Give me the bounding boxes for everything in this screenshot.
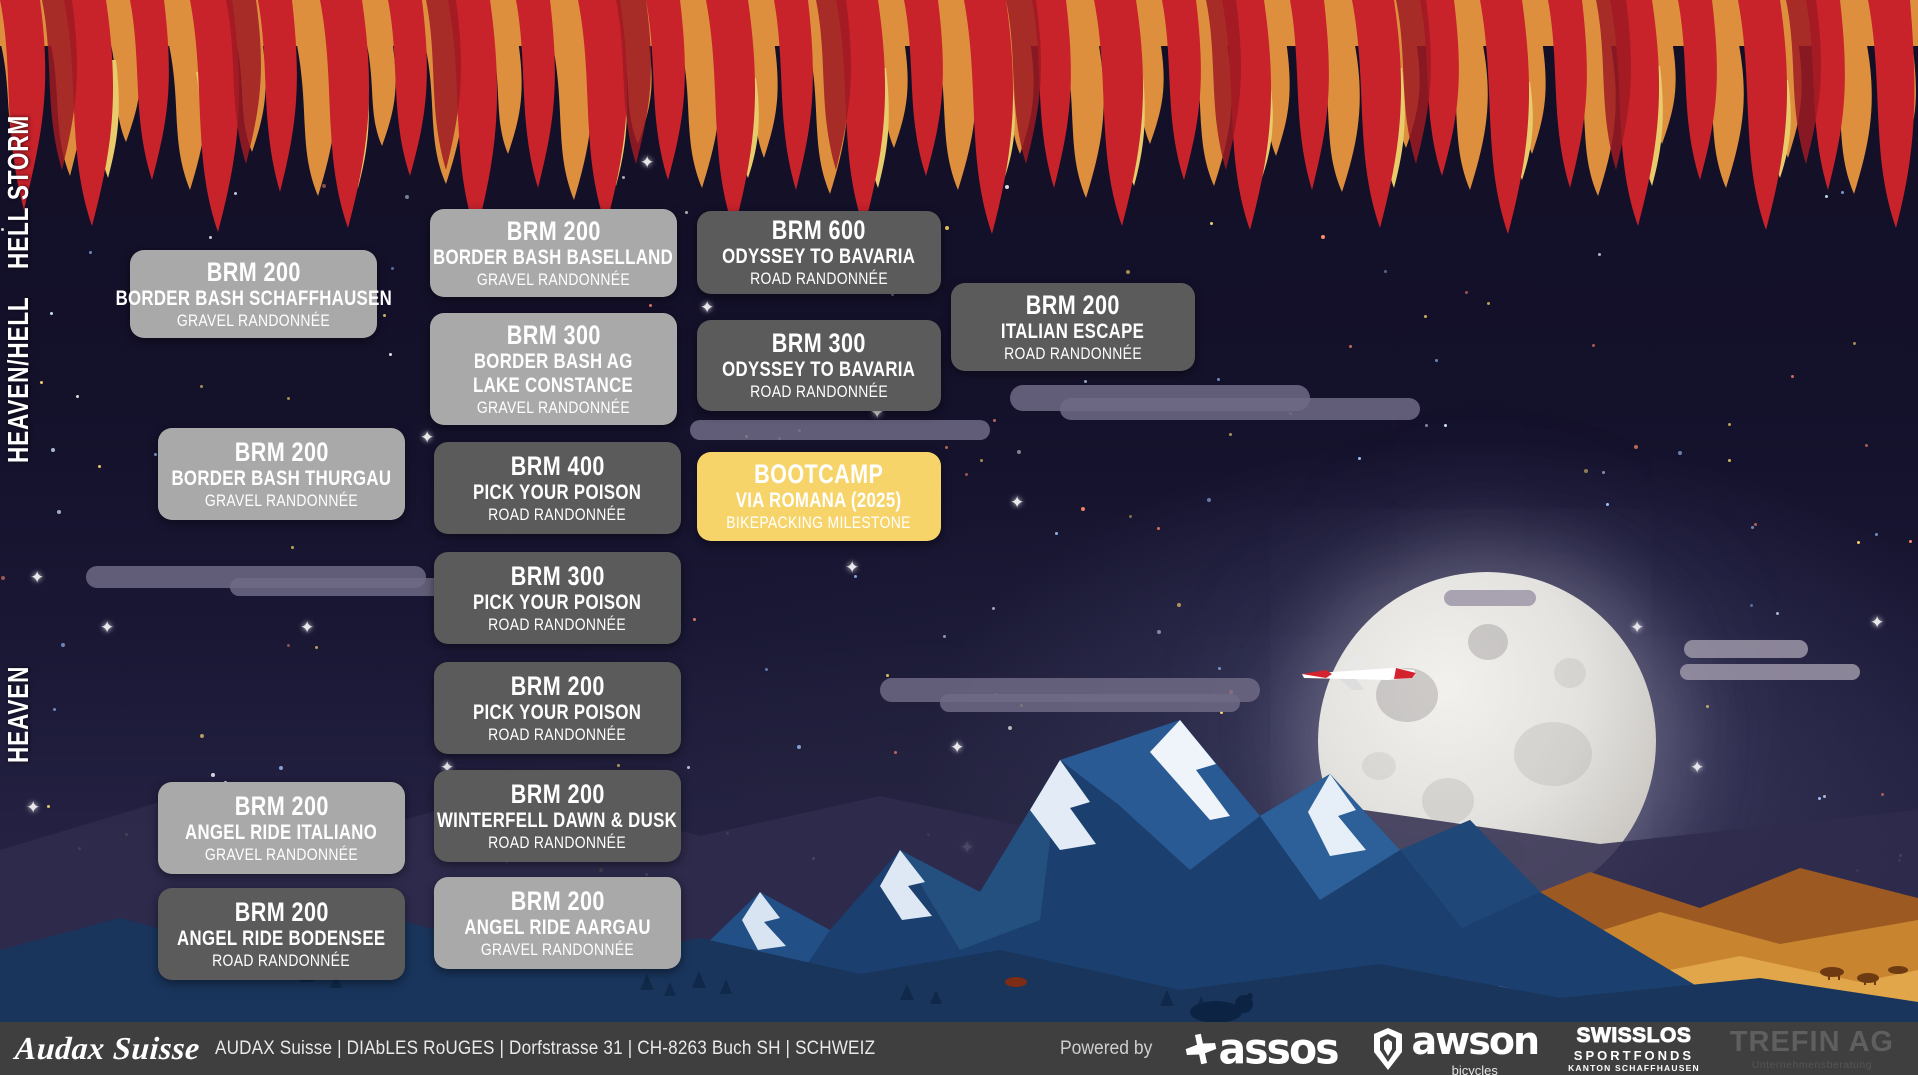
- footer-bar: Audax Suisse AUDAX Suisse | DIAbLES RoUG…: [0, 1022, 1918, 1075]
- event-card-italian-escape[interactable]: BRM 200ITALIAN ESCAPEROAD RANDONNÉE: [951, 283, 1195, 371]
- airplane-icon: [1296, 652, 1424, 692]
- event-card-name: ODYSSEY TO BAVARIA: [722, 358, 915, 382]
- star-dot: [1207, 498, 1211, 502]
- star-dot: [1126, 270, 1130, 274]
- event-card-type: ROAD RANDONNÉE: [750, 382, 888, 402]
- star-dot: [1229, 433, 1232, 436]
- assos-wordmark: assos: [1218, 1023, 1337, 1073]
- event-card-distance: BRM 200: [206, 257, 300, 287]
- star-dot: [1606, 503, 1609, 506]
- event-card-distance: BRM 300: [510, 561, 604, 591]
- event-card-type: GRAVEL RANDONNÉE: [477, 270, 630, 290]
- event-card-name-line2: LAKE CONSTANCE: [473, 374, 633, 398]
- event-card-angel-ride-aargau[interactable]: BRM 200ANGEL RIDE AARGAUGRAVEL RANDONNÉE: [434, 877, 681, 969]
- star-dot: [1084, 380, 1087, 383]
- sponsor-assos: assos: [1184, 1025, 1337, 1073]
- star-dot: [1791, 375, 1794, 378]
- star-dot: [76, 395, 79, 398]
- star-dot: [287, 397, 290, 400]
- event-card-type: ROAD RANDONNÉE: [489, 615, 627, 635]
- swisslos-wordmark: SWISSLOS: [1577, 1024, 1692, 1048]
- star-dot: [1358, 457, 1361, 460]
- star-dot: [1349, 345, 1352, 348]
- star-dot: [1598, 253, 1601, 256]
- event-card-distance: BRM 200: [510, 886, 604, 916]
- event-card-type: ROAD RANDONNÉE: [489, 833, 627, 853]
- event-card-type: BIKEPACKING MILESTONE: [727, 513, 912, 533]
- event-card-name-line1: BORDER BASH AG: [474, 350, 633, 374]
- star-dot: [1425, 424, 1428, 427]
- event-card-type: ROAD RANDONNÉE: [750, 269, 888, 289]
- star-dot: [1853, 342, 1856, 345]
- star-dot: [1129, 515, 1132, 518]
- event-card-border-bash-ag-lake-constance[interactable]: BRM 300BORDER BASH AGLAKE CONSTANCEGRAVE…: [430, 313, 677, 425]
- star-dot: [1465, 291, 1468, 294]
- event-card-distance: BRM 300: [772, 328, 866, 358]
- event-card-bootcamp-via-romana[interactable]: BOOTCAMPVIA ROMANA (2025)BIKEPACKING MIL…: [697, 452, 941, 541]
- star-dot: [1384, 270, 1387, 273]
- star-dot: [89, 251, 92, 254]
- star-dot: [57, 510, 61, 514]
- swisslos-kanton-label: KANTON SCHAFFHAUSEN: [1568, 1063, 1700, 1073]
- star-dot: [1584, 469, 1588, 473]
- star-dot: [51, 448, 55, 452]
- awson-lion-icon: [1368, 1026, 1408, 1072]
- sponsor-swisslos: SWISSLOS SPORTFONDS KANTON SCHAFFHAUSEN: [1568, 1024, 1700, 1073]
- event-card-angel-ride-italiano[interactable]: BRM 200ANGEL RIDE ITALIANOGRAVEL RANDONN…: [158, 782, 405, 874]
- star-dot: [1728, 423, 1731, 426]
- sparkle-star-icon: ✦: [1010, 495, 1024, 512]
- star-dot: [1728, 459, 1731, 462]
- audax-suisse-logo: Audax Suisse: [0, 1030, 216, 1067]
- star-dot: [1435, 359, 1438, 362]
- event-card-type: GRAVEL RANDONNÉE: [477, 398, 630, 418]
- star-dot: [200, 385, 203, 388]
- star-dot: [1634, 445, 1638, 449]
- event-card-name: BORDER BASH BASELLAND: [433, 246, 673, 270]
- event-card-angel-ride-bodensee[interactable]: BRM 200ANGEL RIDE BODENSEEROAD RANDONNÉE: [158, 888, 405, 980]
- star-dot: [1678, 451, 1682, 455]
- star-dot: [1424, 315, 1427, 318]
- event-card-type: ROAD RANDONNÉE: [1004, 344, 1142, 364]
- tier-label-heaven: HEAVEN: [3, 666, 36, 763]
- event-card-distance: BOOTCAMP: [754, 459, 883, 489]
- awson-wordmark: awson: [1412, 1019, 1539, 1063]
- star-dot: [1081, 507, 1085, 511]
- star-dot: [993, 419, 996, 422]
- star-dot: [383, 314, 386, 317]
- star-dot: [389, 353, 392, 356]
- event-card-distance: BRM 200: [510, 671, 604, 701]
- swisslos-sportfonds-label: SPORTFONDS: [1574, 1048, 1694, 1063]
- event-card-name: ANGEL RIDE BODENSEE: [177, 927, 385, 951]
- event-card-name: ANGEL RIDE AARGAU: [464, 916, 651, 940]
- event-card-type: GRAVEL RANDONNÉE: [205, 845, 358, 865]
- tier-label-hell-storm: HELL STORM: [3, 115, 36, 269]
- star-dot: [1592, 344, 1595, 347]
- trefin-wordmark: TREFIN AG: [1730, 1026, 1894, 1059]
- event-card-name: WINTERFELL DAWN & DUSK: [437, 809, 677, 833]
- star-dot: [209, 236, 212, 239]
- event-card-pick-your-poison-200[interactable]: BRM 200PICK YOUR POISONROAD RANDONNÉE: [434, 662, 681, 754]
- event-card-type: ROAD RANDONNÉE: [489, 725, 627, 745]
- event-card-distance: BRM 200: [234, 897, 328, 927]
- star-dot: [154, 453, 157, 456]
- star-dot: [50, 312, 53, 315]
- event-card-winterfell-dawn-dusk[interactable]: BRM 200WINTERFELL DAWN & DUSKROAD RANDON…: [434, 770, 681, 862]
- event-card-type: ROAD RANDONNÉE: [213, 951, 351, 971]
- star-dot: [40, 381, 43, 384]
- star-dot: [1444, 424, 1447, 427]
- hell-storm-flames: [0, 0, 1918, 235]
- sponsor-awson: awson bicycles: [1368, 1019, 1539, 1075]
- poster-root: ✦✦✦✦✦✦✦✦✦✦✦✦✦✦✦✦✦✦: [0, 0, 1918, 1075]
- tier-label-heaven-hell: HEAVEN/HELL: [3, 296, 36, 463]
- event-card-name: ANGEL RIDE ITALIANO: [185, 821, 377, 845]
- event-card-distance: BRM 200: [510, 779, 604, 809]
- event-card-type: GRAVEL RANDONNÉE: [177, 311, 330, 331]
- event-card-name: VIA ROMANA (2025): [736, 489, 902, 513]
- event-card-name: BORDER BASH THURGAU: [172, 467, 392, 491]
- sparkle-star-icon: ✦: [700, 300, 714, 317]
- event-card-name: PICK YOUR POISON: [473, 591, 641, 615]
- event-card-type: GRAVEL RANDONNÉE: [481, 940, 634, 960]
- event-card-pick-your-poison-300[interactable]: BRM 300PICK YOUR POISONROAD RANDONNÉE: [434, 552, 681, 644]
- star-dot: [965, 473, 968, 476]
- event-card-distance: BRM 200: [234, 791, 328, 821]
- event-card-distance: BRM 200: [234, 437, 328, 467]
- event-card-name: BORDER BASH SCHAFFHAUSEN: [115, 287, 392, 311]
- star-dot: [1487, 302, 1490, 305]
- star-dot: [391, 267, 394, 270]
- event-card-type: GRAVEL RANDONNÉE: [205, 491, 358, 511]
- event-card-distance: BRM 200: [1026, 290, 1120, 320]
- footer-address: AUDAX Suisse | DIAbLES RoUGES | Dorfstra…: [215, 1038, 875, 1060]
- trefin-tagline: Unternehmensberatung: [1752, 1059, 1872, 1071]
- assos-mark-icon: [1184, 1032, 1218, 1066]
- event-card-distance: BRM 200: [506, 216, 600, 246]
- star-dot: [1602, 471, 1605, 474]
- event-card-name: ITALIAN ESCAPE: [1001, 320, 1144, 344]
- event-card-distance: BRM 400: [510, 451, 604, 481]
- star-dot: [98, 465, 101, 468]
- star-dot: [1321, 235, 1325, 239]
- event-card-pick-your-poison-400[interactable]: BRM 400PICK YOUR POISONROAD RANDONNÉE: [434, 442, 681, 534]
- powered-by-label: Powered by: [1060, 1038, 1152, 1060]
- event-card-distance: BRM 600: [772, 215, 866, 245]
- sparkle-star-icon: ✦: [420, 430, 434, 447]
- star-dot: [649, 304, 652, 307]
- star-dot: [980, 459, 983, 462]
- event-card-border-bash-schaffhausen[interactable]: BRM 200BORDER BASH SCHAFFHAUSENGRAVEL RA…: [130, 250, 377, 338]
- awson-tagline: bicycles: [1452, 1063, 1498, 1075]
- event-card-odyssey-to-bavaria-300[interactable]: BRM 300ODYSSEY TO BAVARIAROAD RANDONNÉE: [697, 320, 941, 411]
- event-card-distance: BRM 300: [506, 320, 600, 350]
- star-dot: [945, 446, 948, 449]
- event-card-name: PICK YOUR POISON: [473, 481, 641, 505]
- event-card-border-bash-baselland[interactable]: BRM 200BORDER BASH BASELLANDGRAVEL RANDO…: [430, 209, 677, 297]
- sponsor-logos: assos awson bicycles SWISSLOS SPORTFONDS…: [1184, 1019, 1894, 1075]
- event-card-name: PICK YOUR POISON: [473, 701, 641, 725]
- sponsor-trefin-ag: TREFIN AG Unternehmensberatung: [1730, 1026, 1894, 1071]
- star-dot: [1017, 450, 1021, 454]
- star-dot: [1865, 444, 1868, 447]
- event-card-type: ROAD RANDONNÉE: [489, 505, 627, 525]
- star-dot: [1217, 378, 1220, 381]
- event-card-border-bash-thurgau[interactable]: BRM 200BORDER BASH THURGAUGRAVEL RANDONN…: [158, 428, 405, 520]
- event-card-odyssey-to-bavaria-600[interactable]: BRM 600ODYSSEY TO BAVARIAROAD RANDONNÉE: [697, 211, 941, 294]
- event-card-name: ODYSSEY TO BAVARIA: [722, 245, 915, 269]
